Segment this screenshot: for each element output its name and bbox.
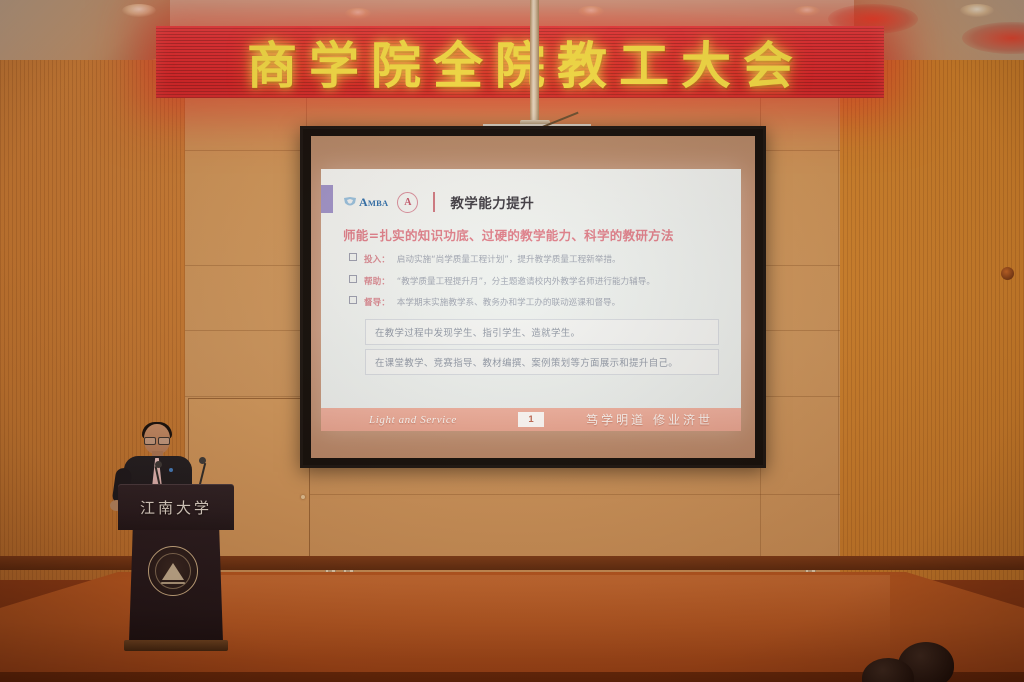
list-item: 帮助： “教学质量工程提升月”，分主题邀请校内外教学名师进行能力辅导。 (349, 275, 727, 287)
slide-heading: 师能=扎实的知识功底、过硬的教学能力、科学的教研方法 (343, 225, 729, 244)
microphone-head-right (199, 457, 206, 464)
microphone-head-left (155, 461, 162, 468)
wall-seam-v3 (838, 60, 839, 560)
auditorium-photo: 商学院全院教工大会 (0, 0, 1024, 682)
podium-base (124, 640, 228, 651)
slide-page-number: 1 (518, 412, 544, 427)
header-divider (433, 192, 435, 212)
amba-wordmark: AMBA (359, 195, 388, 210)
list-item: 投入： 启动实施“尚学质量工程计划”，提升教学质量工程新举措。 (349, 253, 727, 265)
amba-shield-icon (343, 196, 357, 208)
podium-top-panel: 江南大学 (118, 484, 234, 530)
emblem-wave-mark (161, 582, 185, 584)
downlight-1 (122, 4, 156, 17)
footer-tagline: Light and Service (369, 414, 457, 426)
screen-surface: AMBA A 教学能力提升 师能=扎实的知识功底、过硬的教学能力、科学的教研方法… (311, 136, 755, 458)
podium-calligraphy: 江南大学 (128, 494, 224, 520)
amba-logo: AMBA (343, 195, 388, 210)
downlight-3 (578, 6, 604, 17)
downlight-4 (794, 6, 820, 16)
accreditation-mark-letter: A (404, 197, 411, 208)
slide-bullet-list: 投入： 启动实施“尚学质量工程计划”，提升教学质量工程新举措。 帮助： “教学质… (349, 253, 727, 318)
bullet-square-icon (349, 253, 357, 261)
slide-header-title: 教学能力提升 (450, 192, 534, 212)
presentation-slide: AMBA A 教学能力提升 师能=扎实的知识功底、过硬的教学能力、科学的教研方法… (321, 169, 741, 431)
slide-quote-2: 在课堂教学、竞赛指导、教材编撰、案例策划等方面展示和提升自己。 (365, 349, 719, 375)
projection-screen: AMBA A 教学能力提升 师能=扎实的知识功底、过硬的教学能力、科学的教研方法… (300, 126, 766, 468)
glasses-icon (144, 437, 170, 443)
slide-footer: Light and Service 1 笃学明道 修业济世 (321, 408, 741, 431)
accreditation-badge-icon: A (397, 192, 418, 213)
bullet-square-icon (349, 275, 357, 283)
bullet-key: 帮助： (364, 275, 390, 287)
downlight-5 (960, 4, 994, 17)
podium: 江南大学 (118, 484, 234, 656)
emblem-triangle-mark (162, 563, 184, 580)
door-knob-icon (301, 495, 305, 499)
speaker-lapel-pin (169, 468, 173, 472)
bullet-body: “教学质量工程提升月”，分主题邀请校内外教学名师进行能力辅导。 (397, 275, 655, 287)
jiangnan-university-emblem-icon (148, 546, 198, 596)
projector-mount-pole (530, 0, 539, 128)
bullet-square-icon (349, 296, 357, 304)
led-banner: 商学院全院教工大会 (156, 26, 884, 98)
projector-lens-icon (1001, 267, 1014, 280)
bullet-key: 督导： (364, 296, 390, 308)
emblem-inner-ring (155, 553, 191, 589)
slide-header: AMBA A 教学能力提升 (343, 189, 731, 215)
footer-motto: 笃学明道 修业济世 (586, 411, 713, 428)
bullet-body: 启动实施“尚学质量工程计划”，提升教学质量工程新举措。 (397, 253, 621, 265)
downlight-2 (345, 8, 371, 19)
led-banner-text: 商学院全院教工大会 (235, 26, 805, 98)
list-item: 督导： 本学期末实施教学系、教务办和学工办的联动巡课和督导。 (349, 296, 727, 308)
bullet-body: 本学期末实施教学系、教务办和学工办的联动巡课和督导。 (397, 296, 620, 308)
slide-accent-bar (321, 185, 333, 213)
bullet-key: 投入： (364, 253, 390, 265)
wall-slats-right (839, 60, 1024, 635)
slide-quote-1: 在教学过程中发现学生、指引学生、造就学生。 (365, 319, 719, 345)
